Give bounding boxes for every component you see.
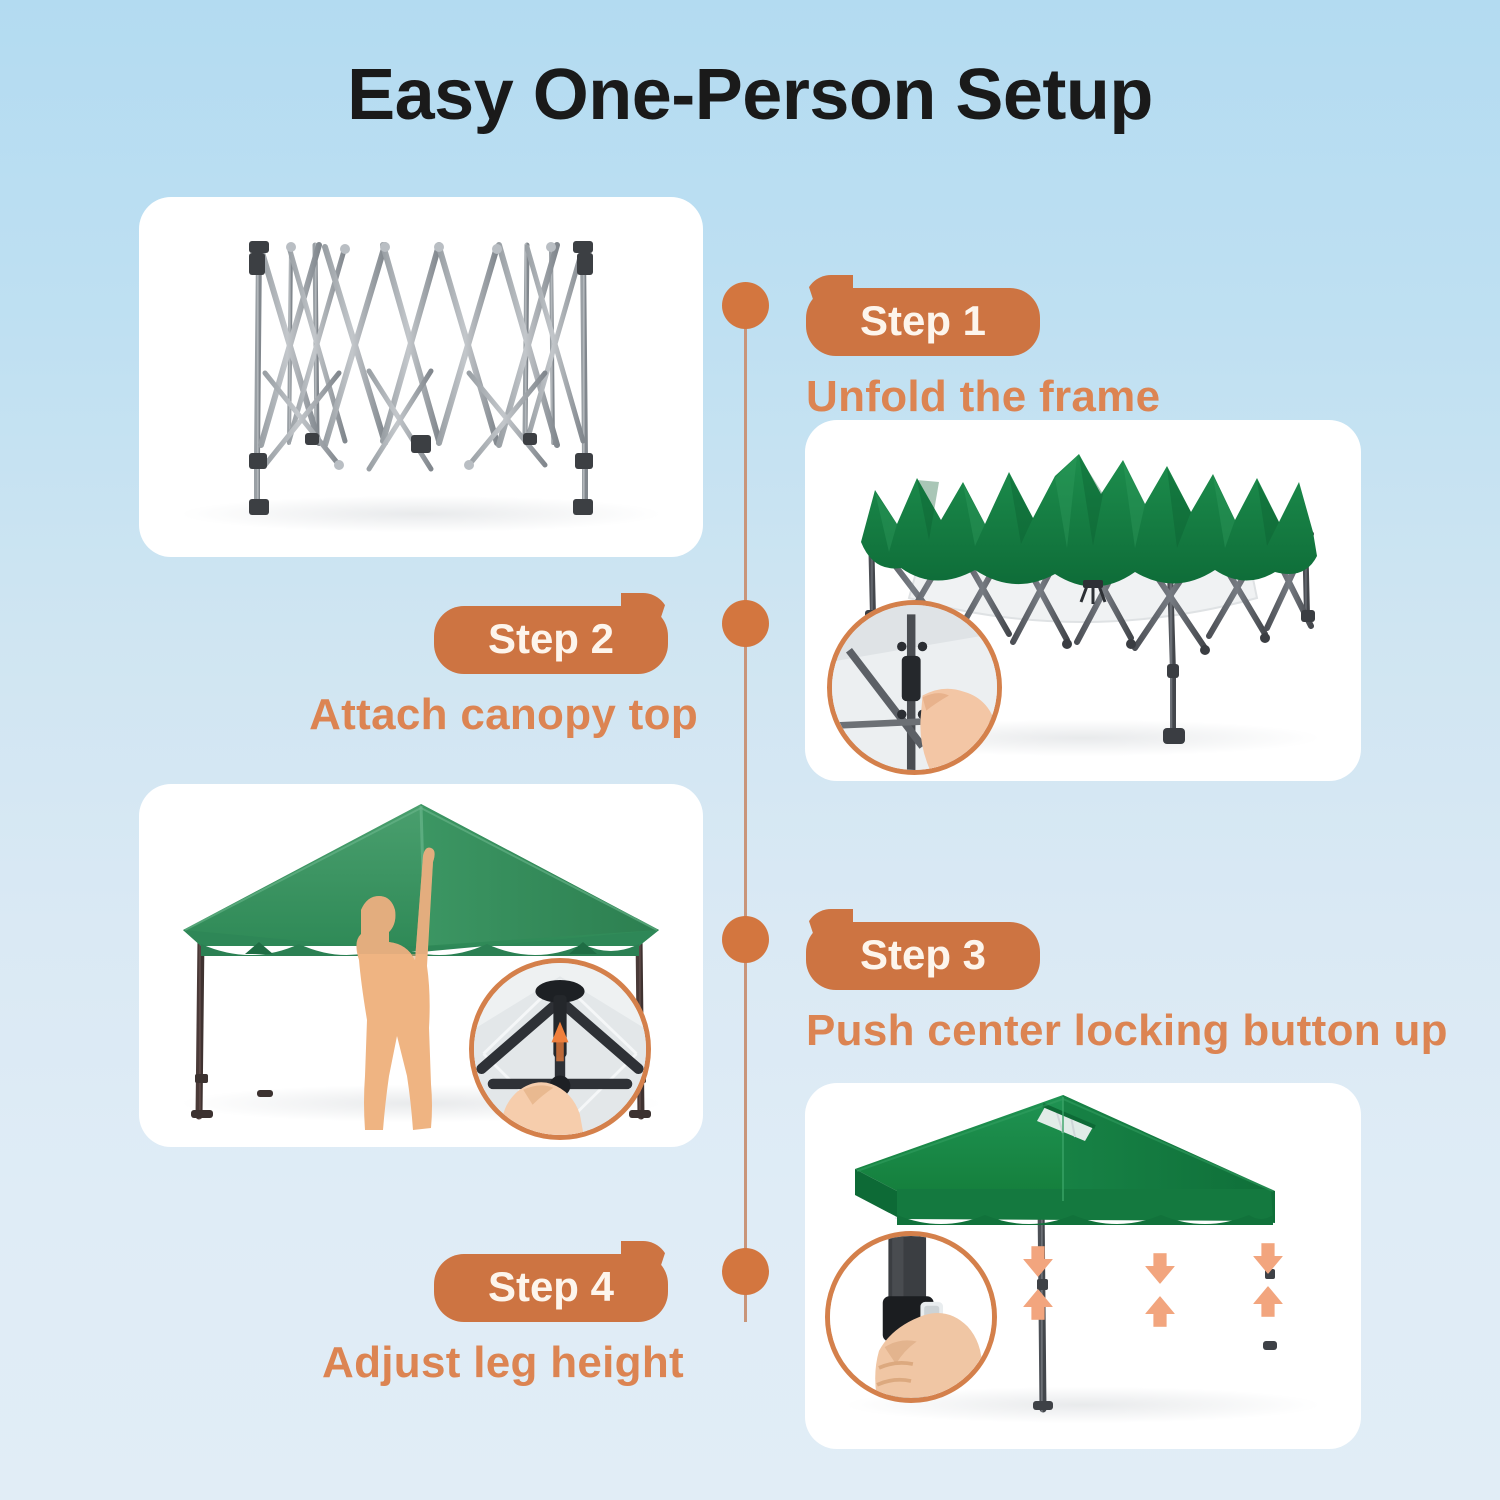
step-4-label-group: Step 4 Adjust leg height (0, 1254, 706, 1388)
arrow-up-icon (1145, 1296, 1175, 1327)
step-3-image-card (139, 784, 703, 1147)
step-4-description: Adjust leg height (0, 1338, 706, 1388)
arrow-up-icon (1253, 1286, 1283, 1317)
step-4-badge: Step 4 (434, 1254, 668, 1322)
step-3-detail-inset (469, 958, 651, 1140)
step-1-label-group: Step 1 Unfold the frame (806, 288, 1160, 422)
arrow-down-icon (1023, 1246, 1053, 1277)
timeline-dot-step-4 (722, 1248, 769, 1295)
step-2-detail-inset (827, 600, 1002, 775)
step-2-label-group: Step 2 Attach canopy top (0, 606, 706, 740)
step-4-image-card (805, 1083, 1361, 1449)
arrow-down-icon (1253, 1243, 1283, 1274)
step-3-description: Push center locking button up (806, 1006, 1448, 1056)
timeline-dot-step-2 (722, 600, 769, 647)
timeline-dot-step-1 (722, 282, 769, 329)
canopy-draped-illustration (805, 420, 1361, 781)
leg-height-arrows-left (1023, 1246, 1053, 1320)
timeline-connector-line (744, 300, 747, 1322)
step-1-image-card (139, 197, 703, 557)
arrow-down-icon (1145, 1253, 1175, 1284)
folded-canopy-frame-illustration (139, 197, 703, 557)
step-1-description: Unfold the frame (806, 372, 1160, 422)
step-2-image-card (805, 420, 1361, 781)
step-4-detail-inset (825, 1231, 997, 1403)
step-1-badge: Step 1 (806, 288, 1040, 356)
leg-height-arrows-center (1145, 1253, 1175, 1327)
leg-height-arrows-right (1253, 1243, 1283, 1317)
assembled-canopy-illustration (805, 1083, 1361, 1449)
step-2-description: Attach canopy top (0, 690, 706, 740)
step-3-label-group: Step 3 Push center locking button up (806, 922, 1448, 1056)
timeline-dot-step-3 (722, 916, 769, 963)
person-pushing-center-illustration (139, 784, 703, 1147)
arrow-up-icon (1023, 1289, 1053, 1320)
page-title: Easy One-Person Setup (0, 54, 1500, 136)
step-2-badge: Step 2 (434, 606, 668, 674)
step-3-badge: Step 3 (806, 922, 1040, 990)
